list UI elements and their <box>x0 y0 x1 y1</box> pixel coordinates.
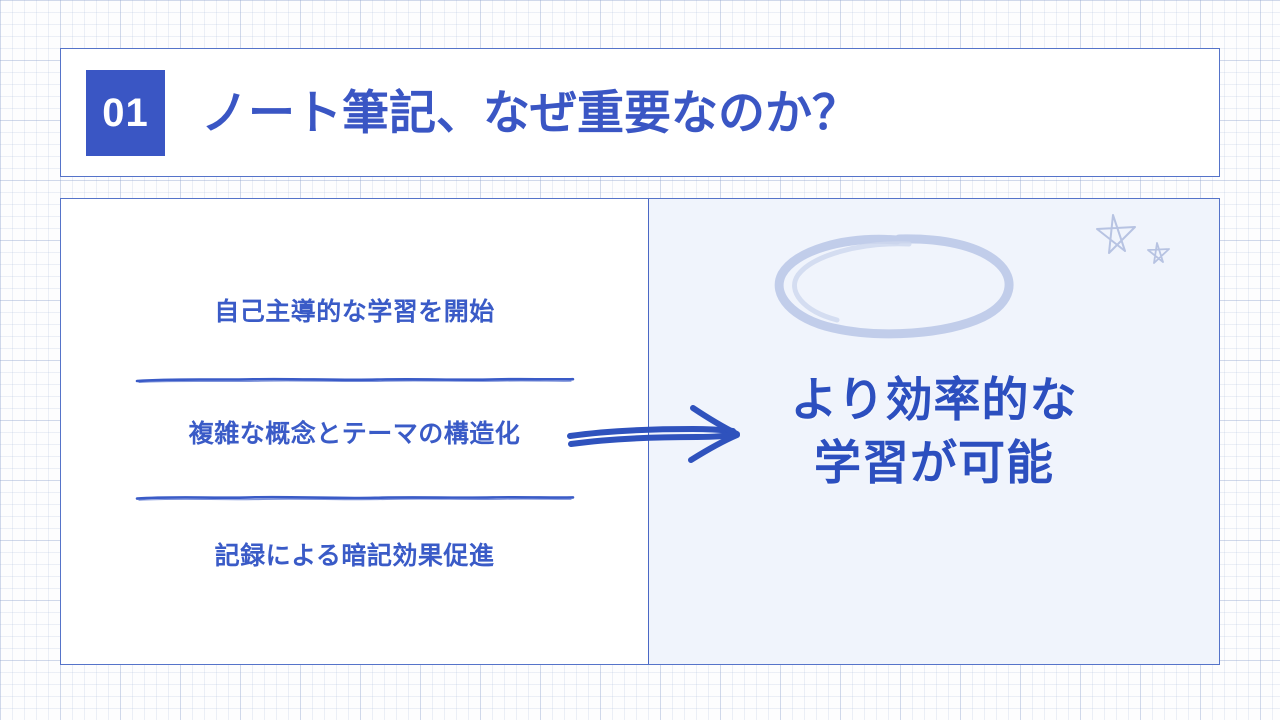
hand-drawn-divider-1-icon <box>135 375 575 385</box>
section-number-label: 01 <box>102 93 149 133</box>
list-item: 複雑な概念とテーマの構造化 <box>61 419 648 449</box>
right-panel-headline: より効率的な 学習が可能 <box>790 369 1077 493</box>
list-item: 記録による暗記効果促進 <box>61 541 648 571</box>
content-box: 自己主導的な学習を開始 複雑な概念とテーマの構造化 記録による暗記効果促進 <box>60 198 1220 665</box>
page-title: ノート筆記、なぜ重要なのか？ <box>201 87 859 139</box>
right-panel: より効率的な 学習が可能 <box>649 199 1219 664</box>
headline-line-2: 学習が可能 <box>790 432 1077 494</box>
spacer <box>61 449 648 493</box>
list-item: 自己主導的な学習を開始 <box>61 297 648 327</box>
hand-drawn-divider-2-icon <box>135 493 575 503</box>
title-box: 01 ノート筆記、なぜ重要なのか？ <box>60 48 1220 177</box>
headline-line-1: より効率的な <box>790 369 1077 431</box>
section-number-badge: 01 <box>86 70 165 156</box>
spacer <box>61 327 648 375</box>
hand-drawn-stars-icon <box>1091 207 1191 292</box>
left-panel: 自己主導的な学習を開始 複雑な概念とテーマの構造化 記録による暗記効果促進 <box>61 199 649 664</box>
hand-drawn-ellipse-highlight-icon <box>769 231 1019 341</box>
